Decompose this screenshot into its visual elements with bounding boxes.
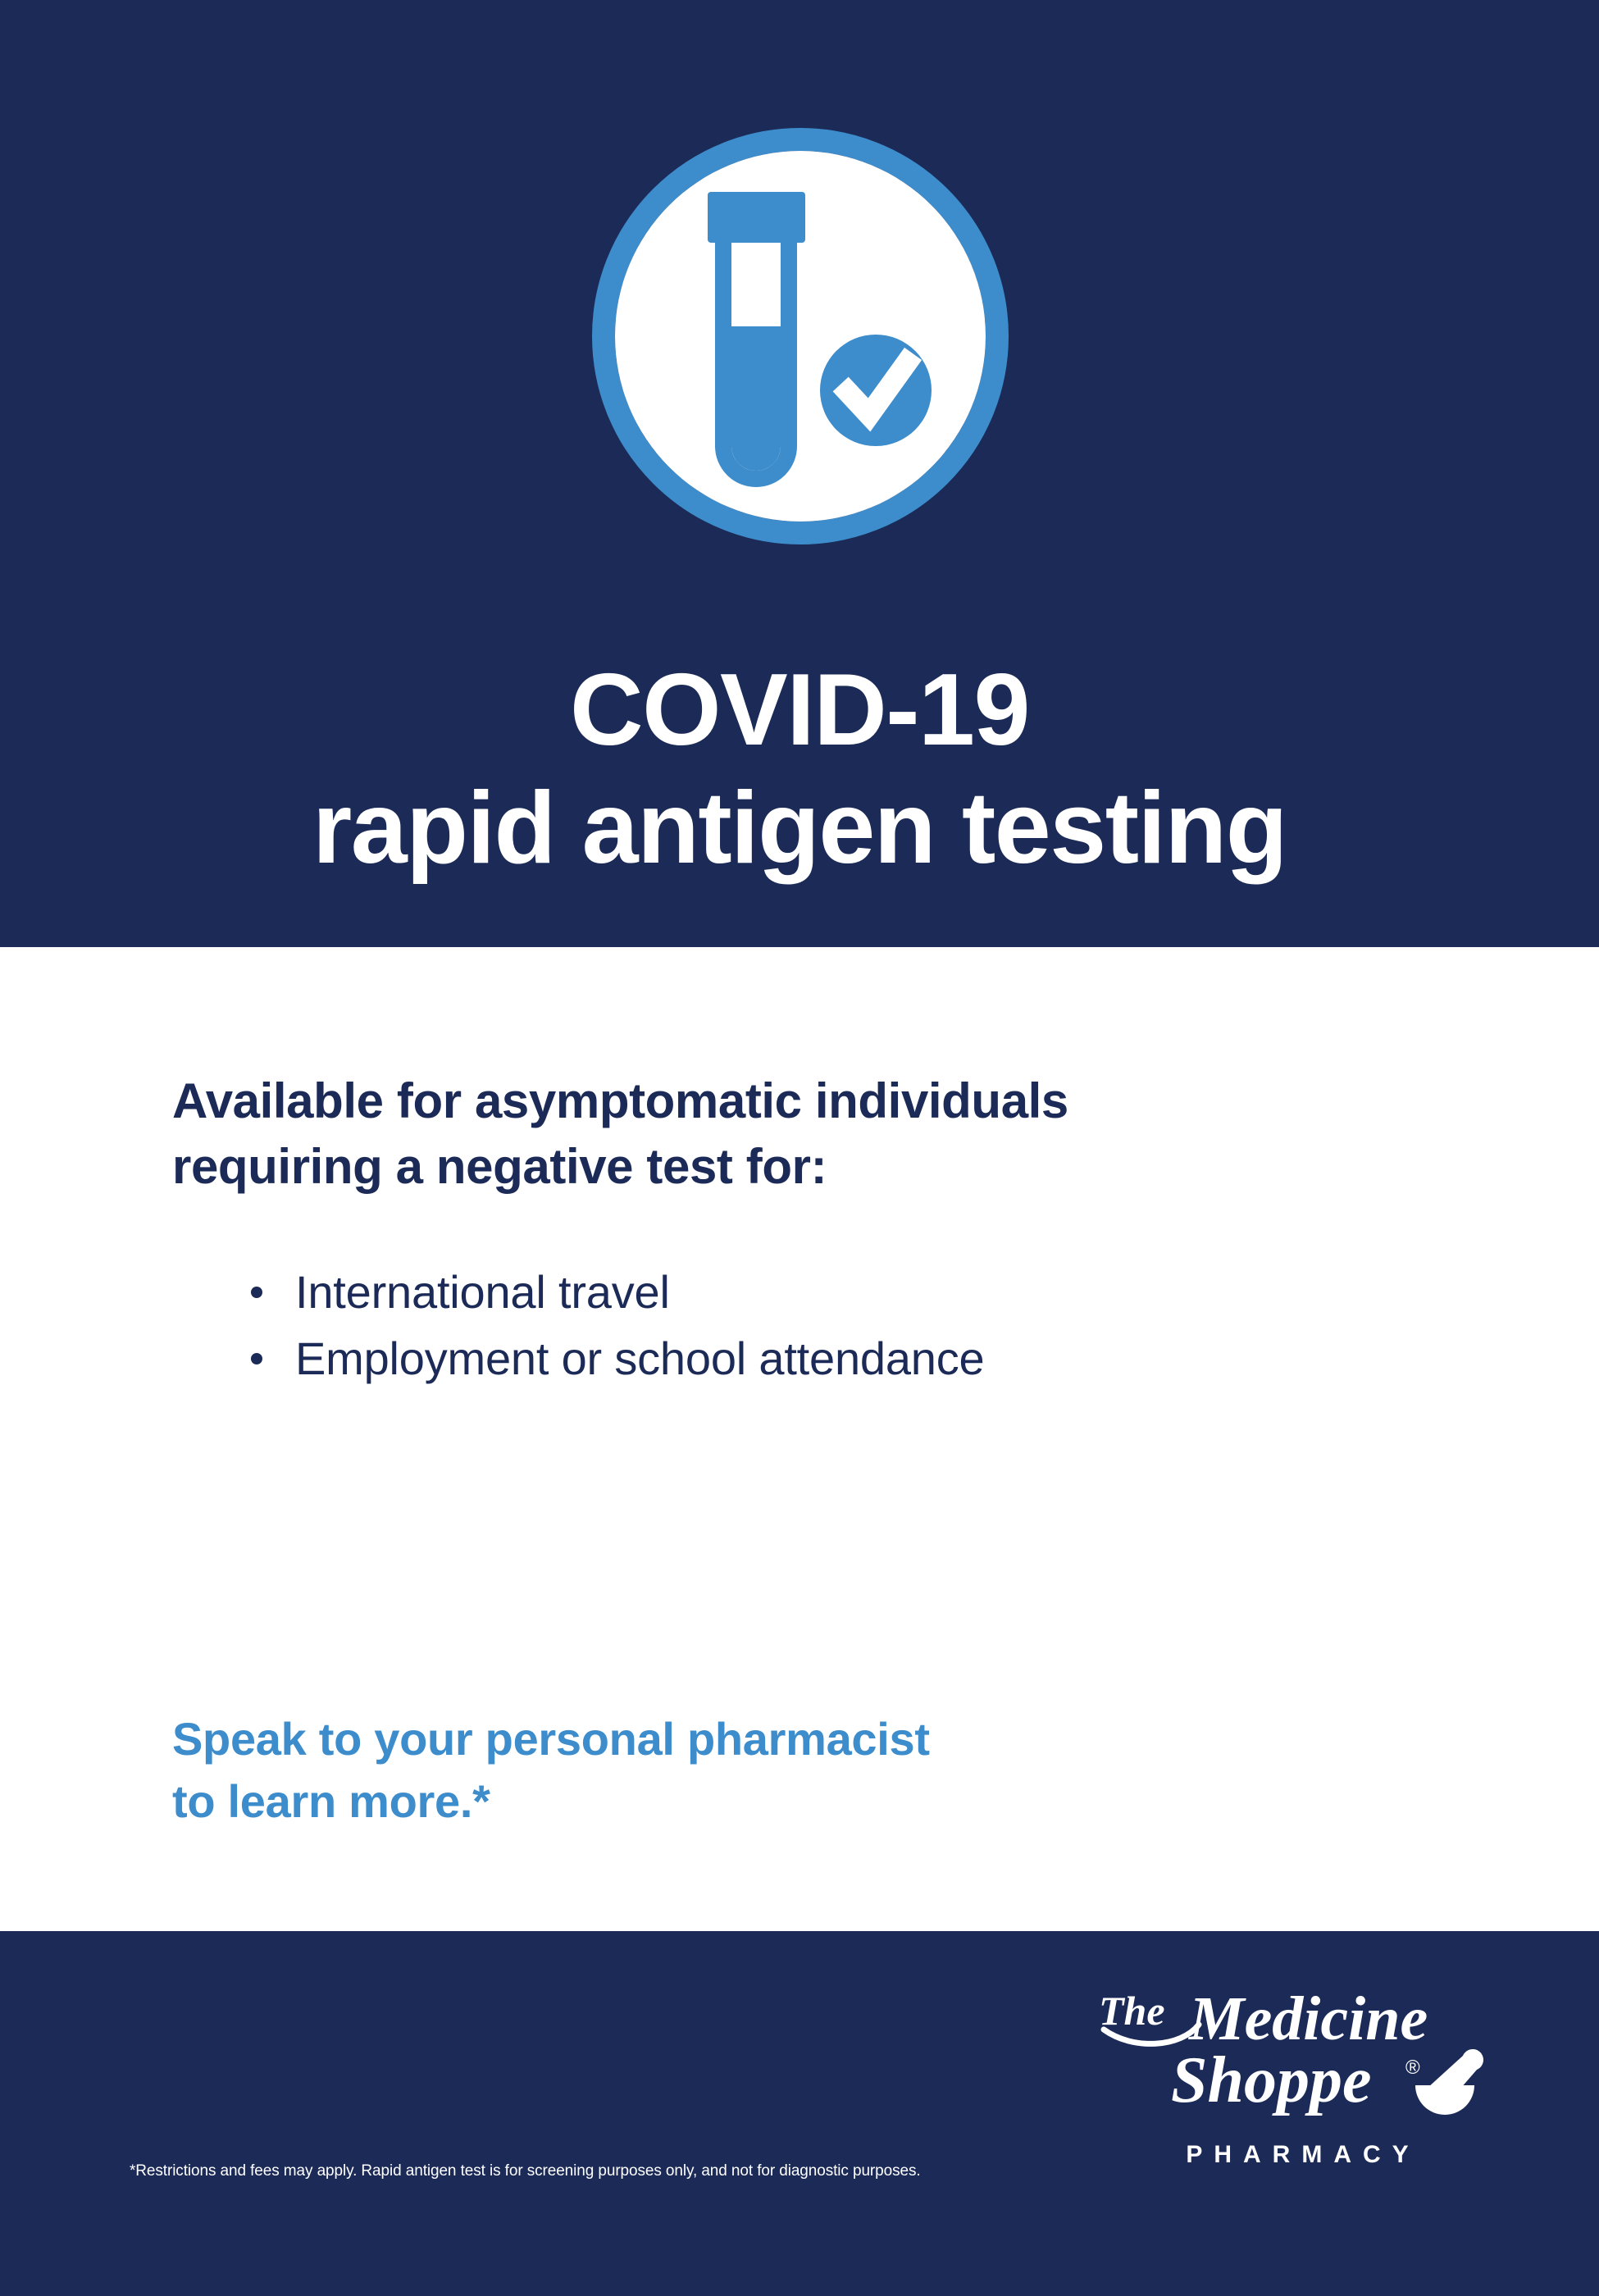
bullet-dot-icon <box>251 1287 262 1298</box>
title-line-2: rapid antigen testing <box>0 770 1599 888</box>
lead-line-2: requiring a negative test for: <box>172 1134 1484 1200</box>
eligibility-list: International travel Employment or schoo… <box>246 1260 1476 1392</box>
call-to-action: Speak to your personal pharmacist to lea… <box>172 1708 1402 1832</box>
test-tube-check-icon <box>592 128 1009 544</box>
brand-logo-wordmark: The Medicine Shoppe ® <box>1084 1982 1510 2134</box>
logo-the: The <box>1099 1988 1165 2034</box>
logo-reg: ® <box>1405 2057 1420 2079</box>
brand-logo: The Medicine Shoppe ® PHARMAC <box>1084 1982 1510 2167</box>
lead-line-1: Available for asymptomatic individuals <box>172 1068 1484 1134</box>
lead-paragraph: Available for asymptomatic individuals r… <box>172 1068 1484 1200</box>
mortar-and-pestle-icon <box>1415 2049 1483 2115</box>
list-item-label: International travel <box>295 1266 670 1318</box>
header-band: COVID-19 rapid antigen testing <box>0 0 1599 947</box>
page-title: COVID-19 rapid antigen testing <box>0 652 1599 888</box>
cta-line-2: to learn more.* <box>172 1770 1402 1833</box>
brand-logo-pharmacy-label: PHARMACY <box>1084 2143 1510 2167</box>
list-item-label: Employment or school attendance <box>295 1332 985 1384</box>
list-item: International travel <box>246 1260 1476 1326</box>
footer-band: The Medicine Shoppe ® PHARMAC <box>0 1931 1599 2296</box>
body-area: Available for asymptomatic individuals r… <box>0 947 1599 1931</box>
logo-shoppe: Shoppe <box>1171 2044 1372 2116</box>
disclaimer-text: *Restrictions and fees may apply. Rapid … <box>130 2162 921 2181</box>
title-line-1: COVID-19 <box>0 652 1599 770</box>
poster-root: COVID-19 rapid antigen testing Available… <box>0 0 1599 2296</box>
list-item: Employment or school attendance <box>246 1326 1476 1392</box>
bullet-dot-icon <box>251 1353 262 1364</box>
logo-medicine: Medicine <box>1188 1984 1428 2053</box>
cta-line-1: Speak to your personal pharmacist <box>172 1708 1402 1770</box>
